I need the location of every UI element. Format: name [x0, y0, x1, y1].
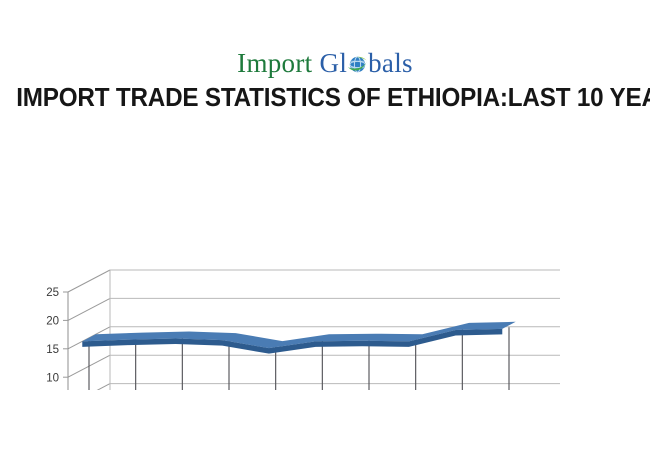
y-axis-label: 15: [46, 344, 59, 356]
logo-text-import: Import: [237, 48, 312, 78]
chart-3d-line: 0510152025201320142015201620172018201920…: [0, 140, 650, 390]
y-axis-label: 10: [46, 372, 59, 384]
globe-icon: [347, 54, 368, 75]
chart-svg: 0510152025201320142015201620172018201920…: [0, 140, 650, 390]
y-axis-label: 20: [46, 316, 59, 328]
logo-text-gl: Gl: [320, 48, 348, 78]
series-import-value: [82, 322, 515, 390]
y-axis-label: 25: [46, 287, 59, 299]
logo-text-bals: bals: [368, 48, 413, 78]
page-title: IMPORT TRADE STATISTICS OF ETHIOPIA:LAST…: [16, 84, 634, 113]
brand-logo: Import Gl bals: [0, 48, 650, 79]
